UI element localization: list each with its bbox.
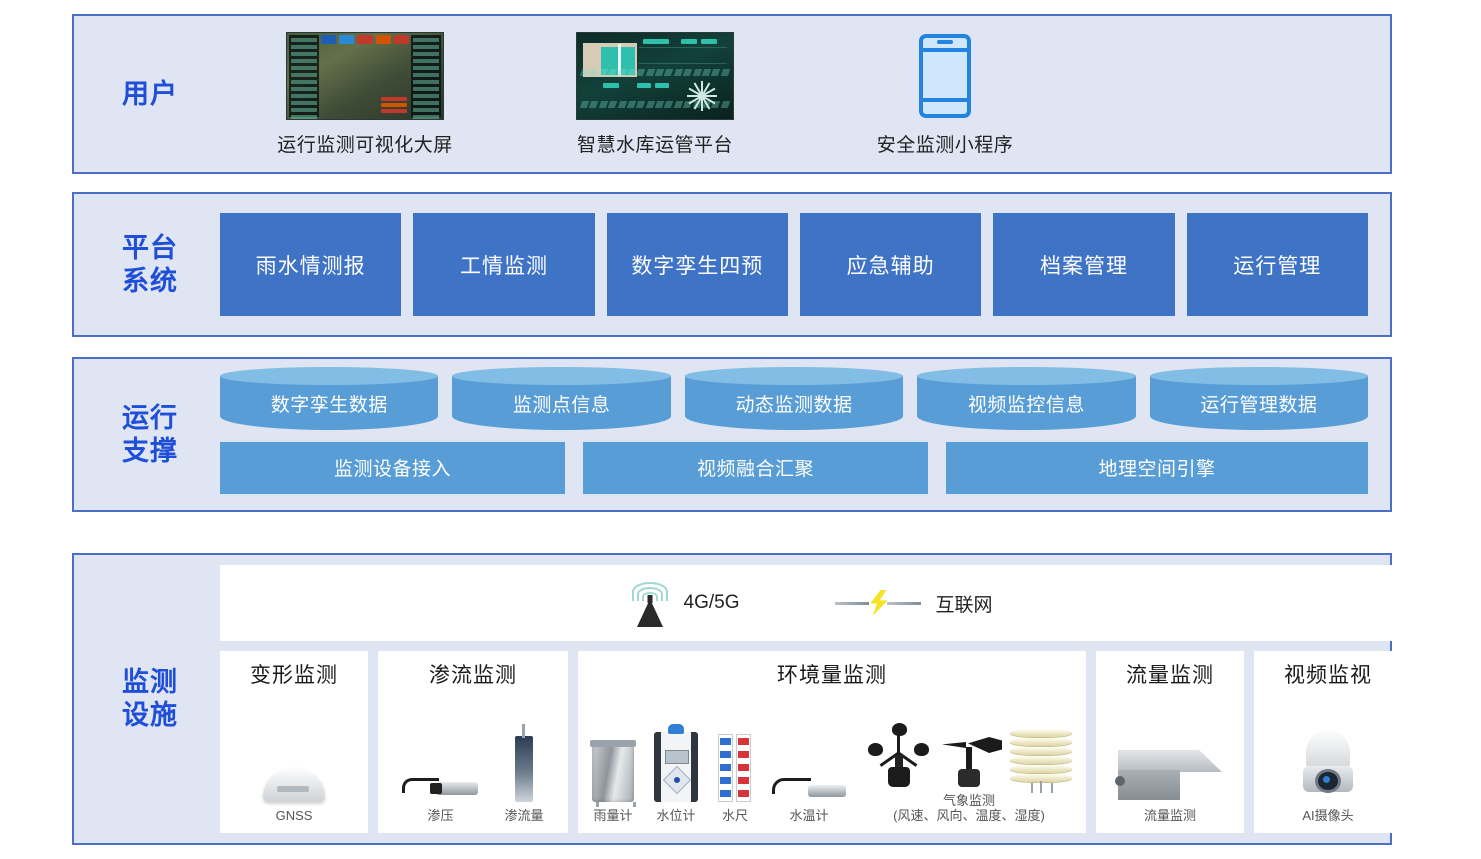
thumb-compass-rose (687, 81, 717, 111)
mobile-phone-icon (919, 34, 971, 118)
device-pressure-probe: 渗压 (402, 724, 478, 823)
section-label-support: 运行 支撑 (80, 402, 220, 468)
device-card-title: 环境量监测 (777, 659, 887, 689)
device-label: 流量监测 (1144, 808, 1196, 823)
section-label-monitor-wrap: 监测 设施 (80, 555, 220, 843)
device-gnss: GNSS (263, 724, 325, 823)
thumb-sidebar-left (289, 35, 319, 117)
gnss-antenna-icon (263, 768, 325, 802)
device-card-title: 流量监测 (1126, 659, 1214, 689)
ptz-camera-icon (1299, 730, 1357, 802)
device-label: 水尺 (722, 808, 748, 823)
device-flow-meter: 流量监测 (1118, 724, 1222, 823)
user-item-caption: 安全监测小程序 (877, 130, 1014, 157)
database-label: 视频监控信息 (968, 388, 1085, 417)
platform-module-digital-twin[interactable]: 数字孪生四预 (607, 213, 788, 316)
device-card-title: 渗流监测 (429, 659, 517, 689)
flow-meter-icon (1118, 750, 1222, 802)
device-card-title: 变形监测 (250, 659, 338, 689)
database-monitor-points[interactable]: 监测点信息 (452, 376, 670, 430)
service-video-fusion[interactable]: 视频融合汇聚 (583, 442, 928, 494)
platform-module-list: 雨水情测报 工情监测 数字孪生四预 应急辅助 档案管理 运行管理 (220, 213, 1390, 316)
device-card-deformation: 变形监测 GNSS (220, 651, 368, 833)
thumb-top-chips (321, 35, 409, 44)
database-label: 运行管理数据 (1200, 388, 1317, 417)
device-card-environment: 环境量监测 雨量计 水位计 (578, 651, 1086, 833)
platform-module-structure[interactable]: 工情监测 (413, 213, 594, 316)
device-label: 渗压 (427, 808, 453, 823)
user-item-caption: 智慧水库运管平台 (577, 130, 733, 157)
service-geospatial-engine[interactable]: 地理空间引擎 (946, 442, 1368, 494)
section-label-platform: 平台 系统 (80, 232, 220, 298)
database-dynamic-data[interactable]: 动态监测数据 (685, 376, 903, 430)
rain-gauge-icon (592, 740, 634, 802)
device-staff-gauge: 水尺 (718, 724, 752, 823)
lightning-bolt-icon (835, 590, 921, 616)
device-label: 雨量计 (593, 808, 632, 823)
water-level-meter-icon (654, 732, 698, 802)
user-item-reservoir-platform[interactable]: 智慧水库运管平台 (510, 32, 800, 157)
service-device-access[interactable]: 监测设备接入 (220, 442, 565, 494)
database-operation-data[interactable]: 运行管理数据 (1150, 376, 1368, 430)
device-card-flow: 流量监测 流量监测 (1096, 651, 1244, 833)
database-video-info[interactable]: 视频监控信息 (917, 376, 1135, 430)
device-label: 渗流量 (504, 808, 543, 823)
dashboard-screenshot (286, 32, 444, 120)
monitoring-content: 4G/5G 互联网 变形监测 GNSS (220, 555, 1424, 843)
device-card-title: 视频监视 (1284, 659, 1372, 689)
database-label: 动态监测数据 (736, 388, 853, 417)
device-card-list: 变形监测 GNSS 渗流监测 渗压 (220, 651, 1402, 833)
platform-module-archive[interactable]: 档案管理 (993, 213, 1174, 316)
platform-module-operations[interactable]: 运行管理 (1187, 213, 1368, 316)
thumb-bottom-chips (381, 97, 407, 115)
section-operation-support: 运行 支撑 数字孪生数据 监测点信息 动态监测数据 视频监控信息 运行管理数据 … (72, 357, 1392, 512)
device-water-level-meter: 水位计 (654, 724, 698, 823)
network-item-cellular: 4G/5G (630, 579, 740, 627)
network-bar: 4G/5G 互联网 (220, 565, 1402, 641)
device-label: 水温计 (789, 808, 828, 823)
user-item-list: 运行监测可视化大屏 (220, 16, 1390, 172)
radiation-shield-icon (1010, 729, 1072, 787)
device-label: GNSS (276, 808, 313, 823)
database-label: 监测点信息 (513, 388, 611, 417)
pressure-probe-icon (402, 776, 478, 802)
device-label: AI摄像头 (1302, 808, 1353, 823)
cell-tower-icon (630, 579, 670, 627)
database-digital-twin[interactable]: 数字孪生数据 (220, 376, 438, 430)
architecture-diagram: 用户 (0, 0, 1481, 859)
device-seepage-sensor: 渗流量 (504, 724, 543, 823)
support-content: 数字孪生数据 监测点信息 动态监测数据 视频监控信息 运行管理数据 监测设备接入… (220, 376, 1390, 494)
device-card-video: 视频监视 AI摄像头 (1254, 651, 1402, 833)
section-users: 用户 (72, 14, 1392, 174)
wind-vane-icon (938, 725, 1004, 787)
device-label: 气象监测 (风速、风向、温度、湿度) (893, 793, 1045, 823)
platform-module-rainfall[interactable]: 雨水情测报 (220, 213, 401, 316)
network-label: 互联网 (935, 590, 992, 617)
platform-module-emergency[interactable]: 应急辅助 (800, 213, 981, 316)
seepage-sensor-icon (515, 736, 533, 802)
device-label: 水位计 (656, 808, 695, 823)
database-label: 数字孪生数据 (271, 388, 388, 417)
database-list: 数字孪生数据 监测点信息 动态监测数据 视频监控信息 运行管理数据 (220, 376, 1368, 430)
anemometer-icon (866, 721, 932, 787)
user-item-visual-dashboard[interactable]: 运行监测可视化大屏 (220, 32, 510, 157)
section-label-monitor: 监测 设施 (80, 666, 220, 732)
network-item-internet: 互联网 (835, 590, 992, 617)
section-platform-system: 平台 系统 雨水情测报 工情监测 数字孪生四预 应急辅助 档案管理 运行管理 (72, 192, 1392, 337)
device-rain-gauge: 雨量计 (592, 724, 634, 823)
device-card-seepage: 渗流监测 渗压 渗流量 (378, 651, 568, 833)
network-label: 4G/5G (684, 592, 740, 614)
thumb-sidebar-right (411, 35, 441, 117)
section-monitoring-facilities: 监测 设施 4G/5G 互联网 (72, 553, 1392, 845)
reservoir-platform-screenshot (576, 32, 734, 120)
device-water-temperature: 水温计 (772, 724, 846, 823)
user-item-mobile-app[interactable]: 安全监测小程序 (800, 32, 1090, 157)
section-label-users: 用户 (80, 78, 220, 111)
water-temperature-probe-icon (772, 778, 846, 802)
device-weather-station: 气象监测 (风速、风向、温度、湿度) (866, 709, 1072, 823)
user-item-caption: 运行监测可视化大屏 (277, 130, 453, 157)
service-list: 监测设备接入 视频融合汇聚 地理空间引擎 (220, 442, 1368, 494)
device-ai-camera: AI摄像头 (1299, 724, 1357, 823)
staff-gauge-icon (718, 734, 752, 802)
